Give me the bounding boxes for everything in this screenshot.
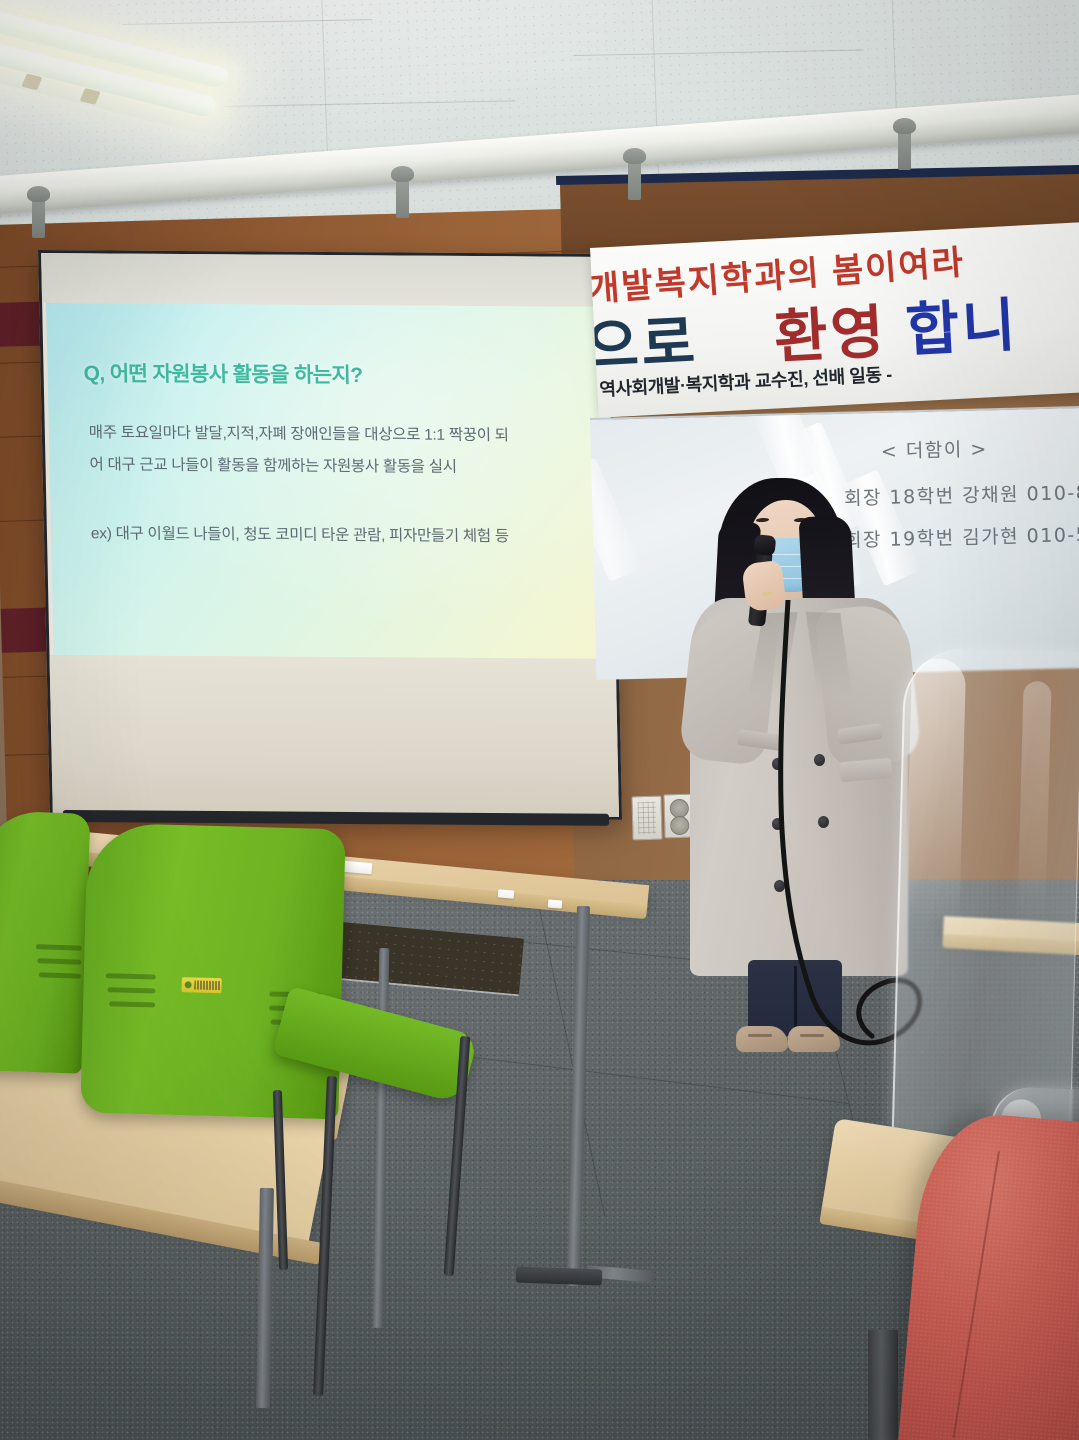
chair-main[interactable]: [80, 823, 346, 1120]
paper-slip[interactable]: [344, 861, 373, 874]
chair-vent-slot: [109, 1001, 155, 1007]
banner-segment-hwanyeong: 환영: [772, 300, 888, 371]
sticker-logo: [185, 981, 192, 988]
chair-vent-slot: [39, 972, 81, 978]
coat-button: [818, 816, 829, 828]
chair-vent-slot: [106, 973, 156, 979]
roller-bracket: [396, 176, 409, 218]
light-endcap: [21, 73, 42, 90]
microphone-head: [753, 534, 776, 556]
slide-question: Q, 어떤 자원봉사 활동을 하는지?: [83, 357, 363, 389]
slide-body-line-1: 매주 토요일마다 발달,지적,자폐 장애인들을 대상으로 1:1 짝꿍이 되: [89, 417, 580, 452]
screen-blank-area: [49, 655, 619, 817]
screen-top-band: [41, 253, 608, 307]
roller-bracket: [32, 196, 45, 238]
slide-example-text: ex) 대구 이월드 나들이, 청도 코미디 타운 관람, 피자만들기 체험 등: [91, 521, 592, 546]
ring: [763, 591, 772, 596]
shoe-strap: [748, 1034, 772, 1037]
projector-screen: Q, 어떤 자원봉사 활동을 하는지? 매주 토요일마다 발달,지적,자폐 장애…: [38, 250, 622, 820]
banner-segment-euro: 으로: [590, 310, 700, 381]
hand: [741, 560, 787, 613]
barcode-lines: [195, 981, 220, 991]
acrylic-reflection: [1013, 681, 1051, 1082]
coat-button: [814, 754, 825, 766]
presentation-slide: Q, 어떤 자원봉사 활동을 하는지? 매주 토요일마다 발달,지적,자폐 장애…: [46, 303, 612, 659]
classroom-photo-scene: Q, 어떤 자원봉사 활동을 하는지? 매주 토요일마다 발달,지적,자폐 장애…: [0, 0, 1079, 1440]
chair-vent-slot: [36, 944, 82, 951]
jeans: [748, 960, 842, 1036]
light-endcap: [80, 88, 101, 105]
chair-vent-slot: [107, 987, 155, 993]
chair-vent-slot: [37, 958, 81, 965]
asset-barcode-sticker: [181, 977, 221, 993]
slide-body-line-2: 어 대구 근교 나들이 활동을 함께하는 자원봉사 활동을 실시: [89, 449, 580, 484]
acrylic-reflection: [901, 658, 966, 1099]
whiteboard-glare: [590, 458, 643, 582]
student-presenter: [690, 470, 920, 1040]
desk-foot: [516, 1267, 603, 1286]
roller-bracket: [898, 128, 911, 170]
whiteboard-club-name: < 더함이 >: [881, 434, 988, 464]
banner-segment-hamni: 합니: [904, 293, 1020, 364]
paper-slip[interactable]: [548, 899, 563, 908]
wall-data-plate: [631, 796, 662, 841]
slide-body-text: 매주 토요일마다 발달,지적,자폐 장애인들을 대상으로 1:1 짝꿍이 되 어…: [89, 417, 581, 484]
coat-button: [774, 880, 785, 892]
acrylic-divider-large: [892, 648, 1079, 1143]
coat-button: [772, 758, 783, 770]
data-plate-grid: [638, 802, 657, 834]
desk-leg: [868, 1330, 898, 1440]
shoe-strap: [800, 1034, 824, 1037]
roller-bracket: [628, 158, 641, 200]
power-socket[interactable]: [670, 816, 689, 835]
welcome-banner: 개발복지학과의 봄이여라 으로 환영 합니 역사회개발·복지학과 교수진, 선배…: [590, 221, 1079, 418]
chair-left-far[interactable]: [0, 810, 91, 1074]
coat-button: [772, 818, 783, 830]
paper-slip[interactable]: [498, 889, 515, 898]
shoe: [736, 1026, 788, 1052]
shoe: [788, 1026, 840, 1052]
